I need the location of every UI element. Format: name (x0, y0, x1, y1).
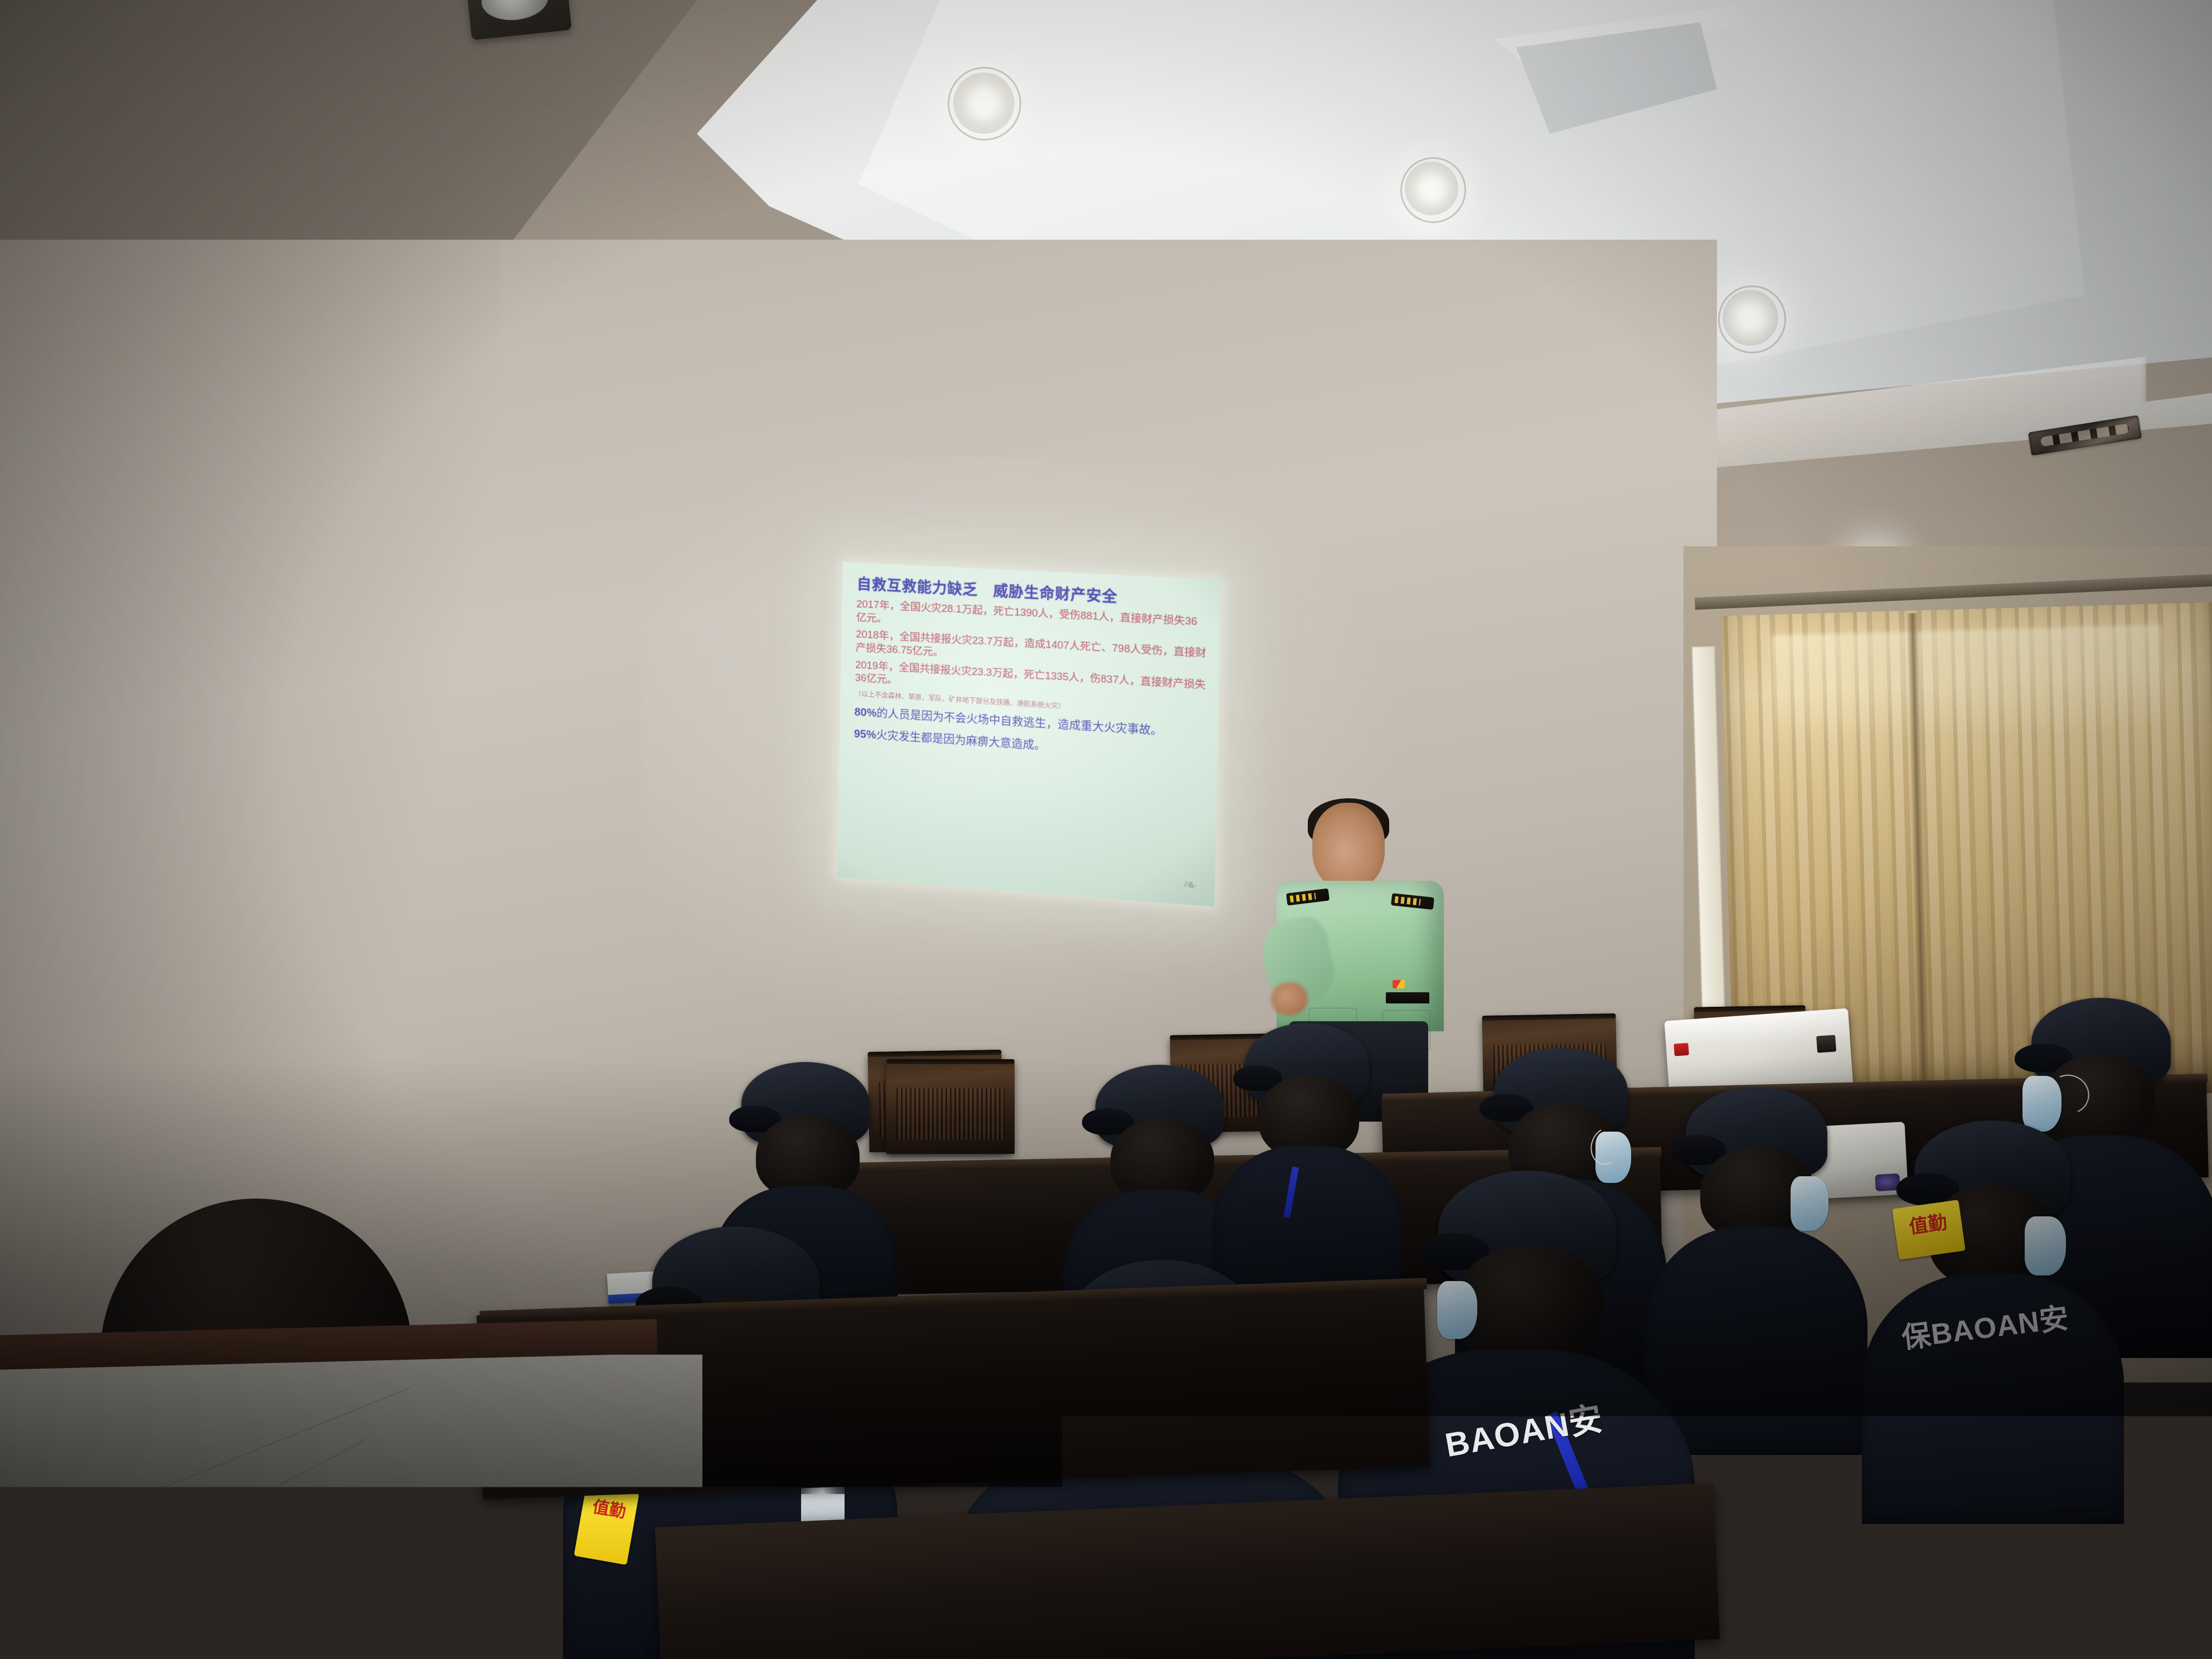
attendee-torso (1645, 1226, 1867, 1455)
floor-tile-line (0, 1439, 366, 1639)
duty-armband: 值勤 (1892, 1200, 1966, 1260)
projected-slide: 自救互救能力缺乏 威胁生命财产安全 2017年，全国火灾28.1万起，死亡139… (837, 562, 1221, 907)
downlight-ring-2 (1400, 157, 1466, 223)
armband-text: 值勤 (1892, 1200, 1963, 1240)
downlight-ring-1 (948, 67, 1021, 140)
presenter-hand (1271, 982, 1308, 1016)
curtain-highlight (1771, 624, 2164, 741)
attendee: 值勤 保BAOAN安 (1884, 1120, 2107, 1522)
attendee (1661, 1087, 1851, 1455)
floor (0, 1355, 702, 1659)
epaulette-right (1391, 893, 1434, 910)
case-latch-icon (1816, 1035, 1836, 1052)
presenter-nametag (1386, 992, 1429, 1003)
downlight-ring-3 (1718, 285, 1786, 353)
face-mask (1437, 1281, 1477, 1339)
face-mask (1791, 1176, 1828, 1231)
presenter-flag-badge-icon (1393, 980, 1405, 988)
case-latch-red-icon (1673, 1043, 1689, 1056)
slide-highlight-80-pct: 80% (854, 706, 876, 720)
slide-highlight-95-text: 火灾发生都是因为麻痹大意造成。 (876, 729, 1046, 753)
slide-logo-icon: ❧ (1175, 870, 1206, 900)
slide-highlight-95-pct: 95% (854, 728, 876, 742)
presenter-head (1312, 803, 1385, 890)
face-mask (2025, 1216, 2066, 1275)
chair-back[interactable] (886, 1059, 1015, 1154)
epaulette-left (1286, 888, 1330, 905)
training-room-photo: 自救互救能力缺乏 威胁生命财产安全 2017年，全国火灾28.1万起，死亡139… (0, 0, 2212, 1659)
